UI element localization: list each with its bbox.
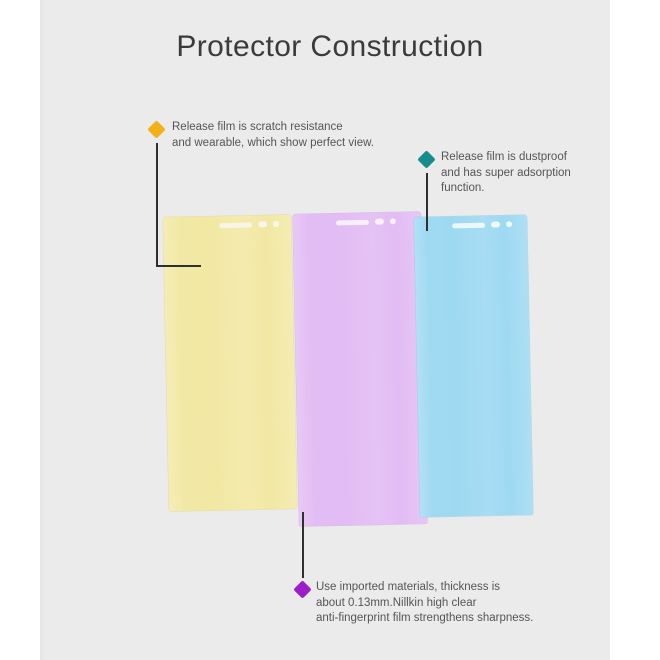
sensor-cutout-icon xyxy=(258,221,267,227)
blue-film-sheen xyxy=(414,215,533,517)
leader-line-purple-vertical xyxy=(302,512,304,578)
callout-text-purple: Use imported materials, thickness is abo… xyxy=(316,580,606,627)
leader-line-yellow-vertical xyxy=(156,143,158,266)
blue-protector-film xyxy=(414,215,533,517)
yellow-film-sheen xyxy=(163,215,297,512)
purple-film-sheen xyxy=(293,212,428,527)
camera-cutout-icon xyxy=(506,221,512,227)
speaker-cutout-icon xyxy=(336,220,369,226)
sensor-cutout-icon xyxy=(491,221,500,227)
speaker-cutout-icon xyxy=(452,223,485,229)
blue-film-surface xyxy=(414,215,533,517)
yellow-film-surface xyxy=(163,215,297,512)
callout-text-yellow: Release film is scratch resistance and w… xyxy=(172,120,432,151)
camera-cutout-icon xyxy=(390,218,396,224)
yellow-protector-film xyxy=(163,215,297,512)
product-infographic: Protector Construction Release film is s… xyxy=(0,0,660,660)
speaker-cutout-icon xyxy=(219,223,252,229)
purple-protector-film xyxy=(293,212,428,527)
leader-line-yellow-horizontal xyxy=(156,265,201,267)
camera-cutout-icon xyxy=(273,221,279,227)
callout-text-teal: Release film is dustproof and has super … xyxy=(441,150,621,197)
purple-film-surface xyxy=(293,212,428,527)
sensor-cutout-icon xyxy=(375,218,384,224)
leader-line-teal-vertical xyxy=(426,173,428,231)
page-title: Protector Construction xyxy=(0,30,660,64)
